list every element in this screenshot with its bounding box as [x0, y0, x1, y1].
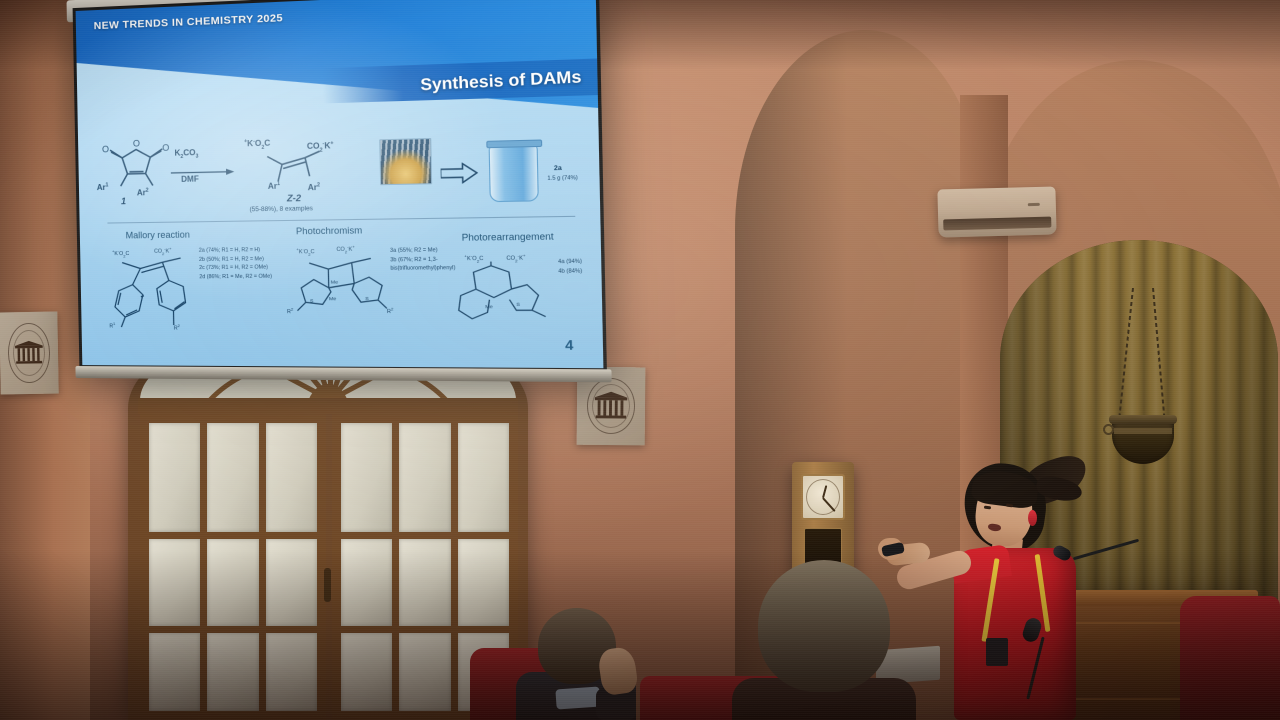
bowl-rim [1109, 415, 1177, 424]
svg-text:Me: Me [329, 296, 337, 302]
clock-face [801, 474, 845, 520]
product-ar2-label: Ar2 [308, 182, 321, 193]
substrate-ar1-label: Ar1 [97, 182, 109, 193]
product-yield: (55-88%), 8 examples [249, 205, 313, 214]
substrate-ar2-label: Ar2 [137, 188, 149, 199]
dithienylethene-structure: S S Me Me [290, 254, 393, 319]
projection-screen: NEW TRENDS IN CHEMISTRY 2025 Synthesis o… [73, 0, 607, 371]
svg-text:O: O [102, 144, 109, 154]
photochromism-entry-2: 3b (67%; R2 = 1,3- [390, 256, 455, 263]
presenter-eye-left [984, 506, 991, 510]
mallory-r1-label: R1 [109, 321, 115, 330]
photorearrangement-entry-1: 4a (94%) [558, 259, 582, 266]
bowl-handle-ring [1103, 424, 1114, 435]
reagent-top-label: K2CO3 [174, 148, 198, 161]
presenter-earring [1028, 510, 1037, 526]
slide-page-number: 4 [565, 337, 574, 353]
photorearrangement-entry-2: 4b (84%) [558, 268, 582, 275]
reaction-photo-thumbnail [379, 138, 432, 185]
photochromism-r-left-label: R2 [287, 307, 293, 317]
section-heading-mallory: Mallory reaction [126, 230, 190, 241]
product-jar-photo [489, 144, 539, 202]
product-right-group: CO2-K+ [307, 140, 334, 154]
photochromism-r-right-label: R2 [387, 306, 394, 316]
ac-indicator-panel [1028, 203, 1040, 206]
mallory-r2-label: R2 [174, 323, 180, 332]
svg-text:Me: Me [485, 304, 493, 310]
ac-air-vent [943, 217, 1051, 231]
institutional-emblem-poster-left [0, 312, 59, 395]
scaleup-amount: 1.5 g (74%) [547, 175, 577, 183]
jar-lid [486, 139, 542, 148]
svg-text:Me: Me [331, 279, 339, 285]
mallory-entry-3: 2c (73%; R1 = H, R2 = OMe) [199, 264, 272, 271]
presentation-slide: NEW TRENDS IN CHEMISTRY 2025 Synthesis o… [76, 0, 604, 368]
svg-text:O: O [133, 138, 140, 148]
substrate-number: 1 [121, 196, 126, 207]
scaleup-arrow-icon [440, 162, 478, 184]
bowl-decorative-band [1114, 428, 1172, 434]
photorearrangement-entry-list: 4a (94%) 4b (84%) [558, 259, 582, 275]
section-heading-photorearrangement: Photorearrangement [462, 231, 554, 243]
section-divider [107, 216, 575, 224]
mallory-entry-2: 2b (50%; R1 = H, R2 = Me) [199, 256, 272, 263]
photochromism-entry-list: 3a (55%; R2 = Me) 3b (67%; R2 = 1,3- bis… [390, 247, 455, 272]
product-ar1-label: Ar1 [268, 181, 280, 192]
svg-text:S: S [516, 302, 521, 308]
photochromism-entry-1: 3a (55%; R2 = Me) [390, 247, 455, 254]
reagent-bottom-label: DMF [181, 174, 199, 185]
anhydride-structure: O O O [100, 130, 175, 190]
screen-surface: NEW TRENDS IN CHEMISTRY 2025 Synthesis o… [73, 0, 607, 371]
photorearranged-polycycle-structure: S Me [451, 259, 564, 325]
mallory-entry-list: 2a (74%; R1 = H, R2 = H) 2b (50%; R1 = H… [199, 247, 272, 280]
door-lintel [138, 398, 518, 414]
photochromism-entry-3: bis(trifluoromethyl)phenyl) [390, 265, 455, 272]
presenter-eye-right [1006, 504, 1013, 508]
mallory-entry-4: 2d (86%; R1 = Me, R2 = OMe) [199, 273, 272, 280]
scaleup-label: 2a [554, 165, 562, 173]
photochromism-right-group: CO2-K+ [336, 244, 354, 254]
lecture-hall-photo: NEW TRENDS IN CHEMISTRY 2025 Synthesis o… [0, 0, 1280, 720]
split-air-conditioner [937, 186, 1056, 237]
foreground-shadow [0, 550, 1280, 720]
fumarate-structure [259, 149, 325, 185]
mallory-stilbene-structure [106, 254, 209, 329]
section-heading-photochromism: Photochromism [296, 225, 363, 236]
mallory-entry-1: 2a (74%; R1 = H, R2 = H) [199, 247, 272, 254]
svg-text:O: O [162, 143, 169, 153]
product-number: Z-2 [287, 193, 301, 205]
